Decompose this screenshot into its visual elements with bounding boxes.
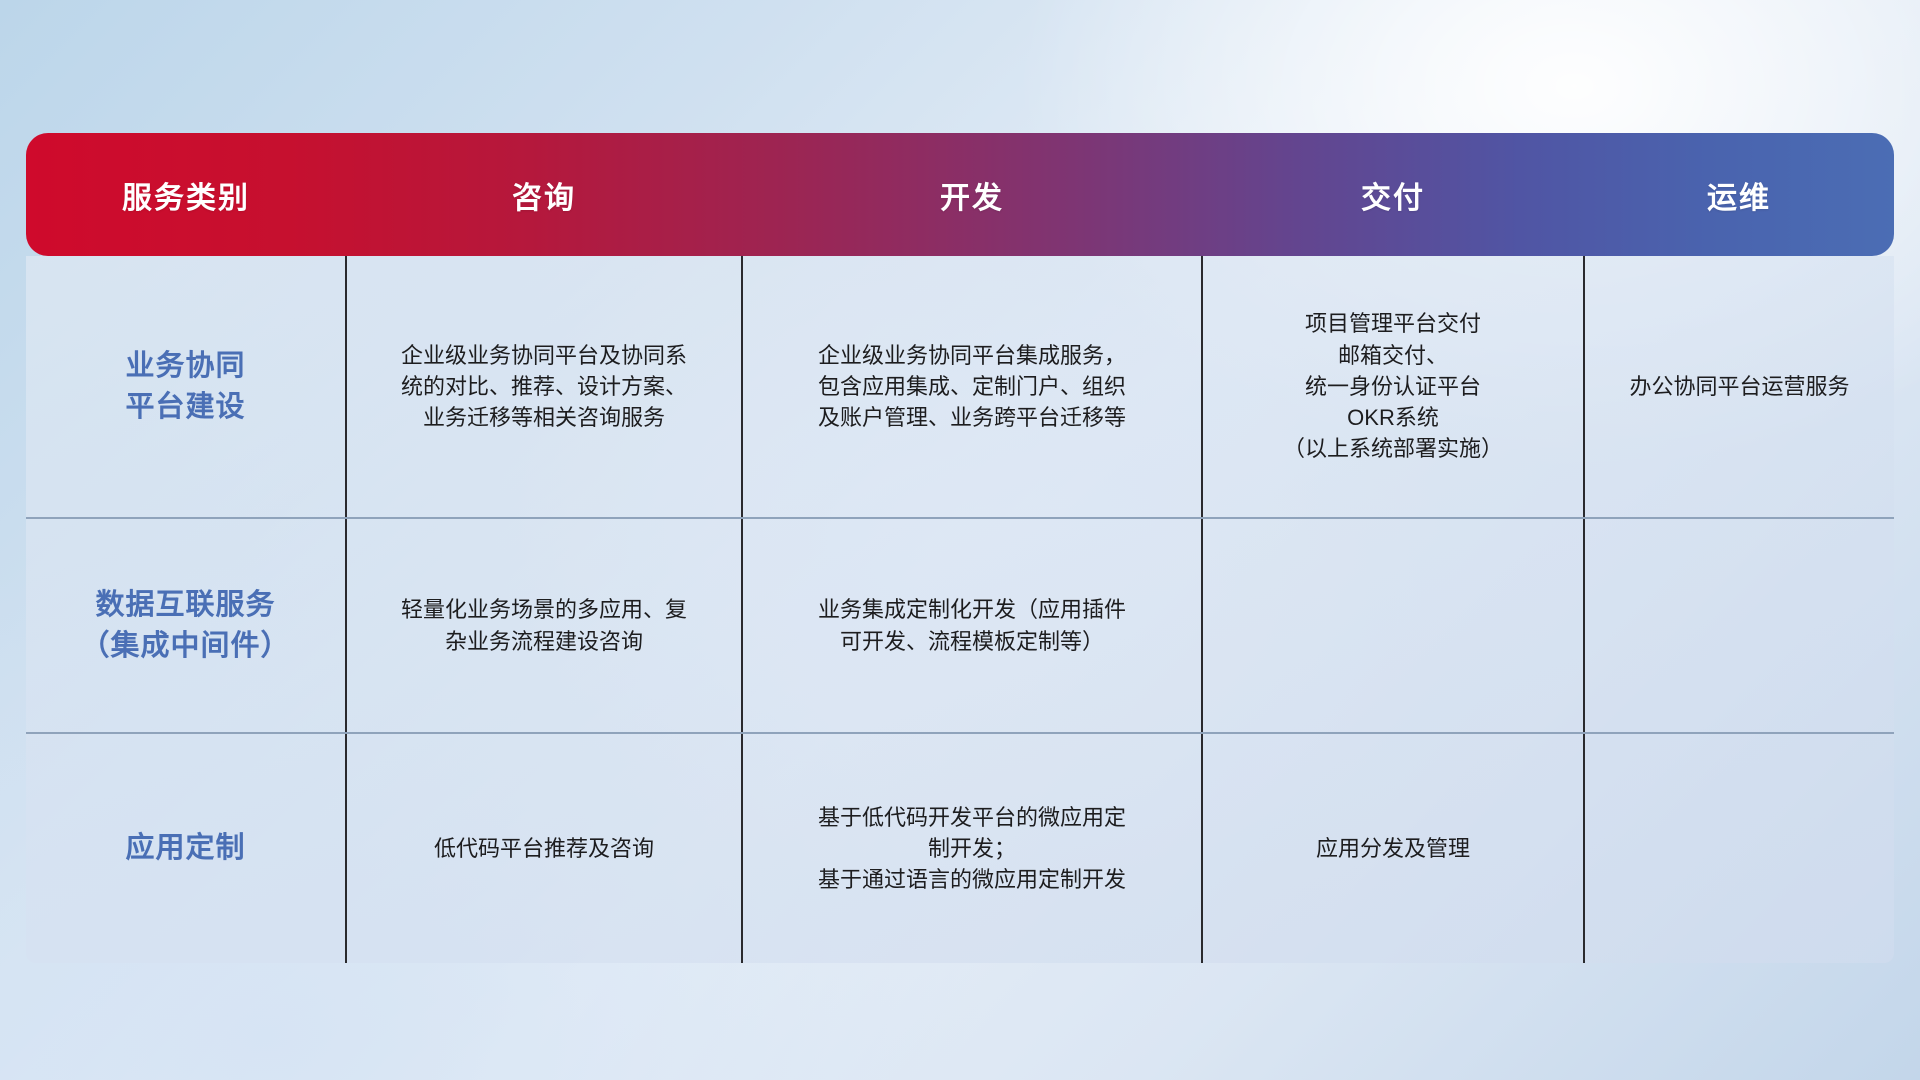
header-label-operations: 运维 xyxy=(1584,173,1894,217)
header-cell-delivery: 交付 xyxy=(1202,133,1584,256)
cell-value: 数据互联服务 （集成中间件） xyxy=(42,585,329,665)
table-header: 服务类别 咨询 开发 交付 运维 xyxy=(26,133,1894,256)
cell-value: 业务集成定制化开发（应用插件 可开发、流程模板定制等） xyxy=(759,594,1185,656)
table-body: 业务协同 平台建设 企业级业务协同平台及协同系 统的对比、推荐、设计方案、 业务… xyxy=(26,256,1894,963)
service-matrix: 服务类别 咨询 开发 交付 运维 xyxy=(26,133,1894,963)
cell-value: 企业级业务协同平台及协同系 统的对比、推荐、设计方案、 业务迁移等相关咨询服务 xyxy=(363,340,725,434)
row-category-label: 业务协同 平台建设 xyxy=(26,256,346,518)
cell-value: 应用分发及管理 xyxy=(1219,833,1567,864)
service-table: 服务类别 咨询 开发 交付 运维 xyxy=(26,133,1894,963)
table-row: 应用定制 低代码平台推荐及咨询 基于低代码开发平台的微应用定 制开发； 基于通过… xyxy=(26,733,1894,963)
slide-canvas: 服务类别 咨询 开发 交付 运维 xyxy=(0,0,1920,1080)
cell-development: 业务集成定制化开发（应用插件 可开发、流程模板定制等） xyxy=(742,518,1202,733)
header-label-delivery: 交付 xyxy=(1202,173,1584,217)
cell-operations xyxy=(1584,733,1894,963)
cell-value: 办公协同平台运营服务 xyxy=(1601,371,1878,402)
cell-value: 业务协同 平台建设 xyxy=(42,346,329,426)
cell-value: 基于低代码开发平台的微应用定 制开发； 基于通过语言的微应用定制开发 xyxy=(759,802,1185,896)
cell-consulting: 低代码平台推荐及咨询 xyxy=(346,733,742,963)
header-label-service-category: 服务类别 xyxy=(26,173,346,217)
header-cell-service-category: 服务类别 xyxy=(26,133,346,256)
cell-value: 企业级业务协同平台集成服务， 包含应用集成、定制门户、组织 及账户管理、业务跨平… xyxy=(759,340,1185,434)
row-category-label: 应用定制 xyxy=(26,733,346,963)
table-row: 数据互联服务 （集成中间件） 轻量化业务场景的多应用、复 杂业务流程建设咨询 业… xyxy=(26,518,1894,733)
cell-value: 低代码平台推荐及咨询 xyxy=(363,833,725,864)
header-label-consulting: 咨询 xyxy=(346,173,742,217)
cell-development: 基于低代码开发平台的微应用定 制开发； 基于通过语言的微应用定制开发 xyxy=(742,733,1202,963)
cell-operations: 办公协同平台运营服务 xyxy=(1584,256,1894,518)
cell-development: 企业级业务协同平台集成服务， 包含应用集成、定制门户、组织 及账户管理、业务跨平… xyxy=(742,256,1202,518)
row-category-label: 数据互联服务 （集成中间件） xyxy=(26,518,346,733)
header-cell-operations: 运维 xyxy=(1584,133,1894,256)
cell-consulting: 轻量化业务场景的多应用、复 杂业务流程建设咨询 xyxy=(346,518,742,733)
cell-delivery xyxy=(1202,518,1584,733)
cell-delivery: 项目管理平台交付 邮箱交付、 统一身份认证平台 OKR系统 （以上系统部署实施） xyxy=(1202,256,1584,518)
header-cell-development: 开发 xyxy=(742,133,1202,256)
table-row: 业务协同 平台建设 企业级业务协同平台及协同系 统的对比、推荐、设计方案、 业务… xyxy=(26,256,1894,518)
cell-delivery: 应用分发及管理 xyxy=(1202,733,1584,963)
cell-value: 轻量化业务场景的多应用、复 杂业务流程建设咨询 xyxy=(363,594,725,656)
cell-consulting: 企业级业务协同平台及协同系 统的对比、推荐、设计方案、 业务迁移等相关咨询服务 xyxy=(346,256,742,518)
cell-value: 项目管理平台交付 邮箱交付、 统一身份认证平台 OKR系统 （以上系统部署实施） xyxy=(1219,308,1567,464)
cell-value: 应用定制 xyxy=(42,828,329,868)
header-cell-consulting: 咨询 xyxy=(346,133,742,256)
cell-operations xyxy=(1584,518,1894,733)
header-row: 服务类别 咨询 开发 交付 运维 xyxy=(26,133,1894,256)
header-label-development: 开发 xyxy=(742,173,1202,217)
